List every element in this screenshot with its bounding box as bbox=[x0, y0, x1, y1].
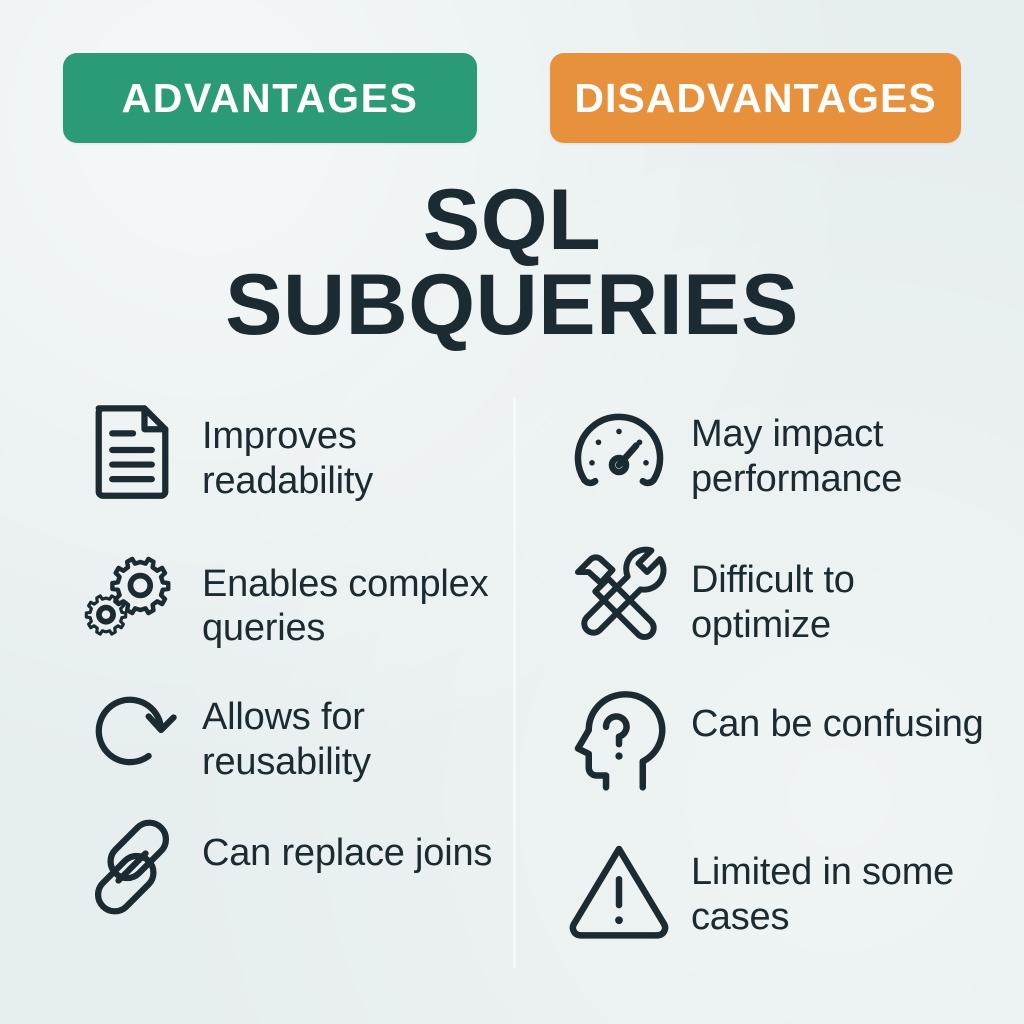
list-item-label: Difficult to optimize bbox=[691, 544, 985, 648]
document-icon bbox=[80, 398, 184, 502]
list-item-label: Improves readability bbox=[202, 398, 500, 504]
list-item[interactable]: Can be confusing bbox=[565, 688, 985, 796]
list-item-label: Limited in some cases bbox=[691, 836, 985, 940]
advantages-badge-label: ADVANTAGES bbox=[122, 78, 419, 119]
warning-triangle-icon bbox=[565, 836, 673, 944]
infographic-canvas: ADVANTAGES DISADVANTAGES SQL SUBQUERIES bbox=[0, 0, 1024, 1024]
column-divider bbox=[513, 398, 516, 968]
list-item[interactable]: Can replace joins bbox=[80, 815, 500, 919]
link-chain-icon bbox=[80, 815, 184, 919]
list-item[interactable]: Enables complex queries bbox=[80, 546, 500, 652]
disadvantages-list: May impact performance Difficult to opti… bbox=[565, 398, 985, 944]
advantages-badge[interactable]: ADVANTAGES bbox=[63, 53, 477, 143]
list-item-label: Can replace joins bbox=[202, 815, 492, 876]
list-item-label: May impact performance bbox=[691, 398, 985, 502]
disadvantages-badge[interactable]: DISADVANTAGES bbox=[550, 53, 961, 143]
gears-icon bbox=[80, 546, 184, 650]
page-title-line-1: SQL bbox=[0, 178, 1024, 263]
list-item[interactable]: Improves readability bbox=[80, 398, 500, 504]
list-item-label: Allows for reusability bbox=[202, 679, 500, 785]
category-badge-row: ADVANTAGES DISADVANTAGES bbox=[63, 53, 961, 143]
list-item-label: Can be confusing bbox=[691, 688, 984, 747]
gauge-speedometer-icon bbox=[565, 398, 673, 506]
page-title-line-2: SUBQUERIES bbox=[0, 263, 1024, 348]
disadvantages-badge-label: DISADVANTAGES bbox=[574, 78, 936, 119]
list-item[interactable]: May impact performance bbox=[565, 398, 985, 506]
hammer-wrench-icon bbox=[565, 544, 673, 652]
head-question-mark-icon bbox=[565, 688, 673, 796]
list-item[interactable]: Allows for reusability bbox=[80, 679, 500, 785]
refresh-circle-arrow-icon bbox=[80, 679, 184, 783]
list-item[interactable]: Limited in some cases bbox=[565, 836, 985, 944]
page-title: SQL SUBQUERIES bbox=[0, 178, 1024, 348]
advantages-list: Improves readability Enables complex que… bbox=[80, 398, 500, 919]
list-item[interactable]: Difficult to optimize bbox=[565, 544, 985, 652]
list-item-label: Enables complex queries bbox=[202, 546, 500, 652]
